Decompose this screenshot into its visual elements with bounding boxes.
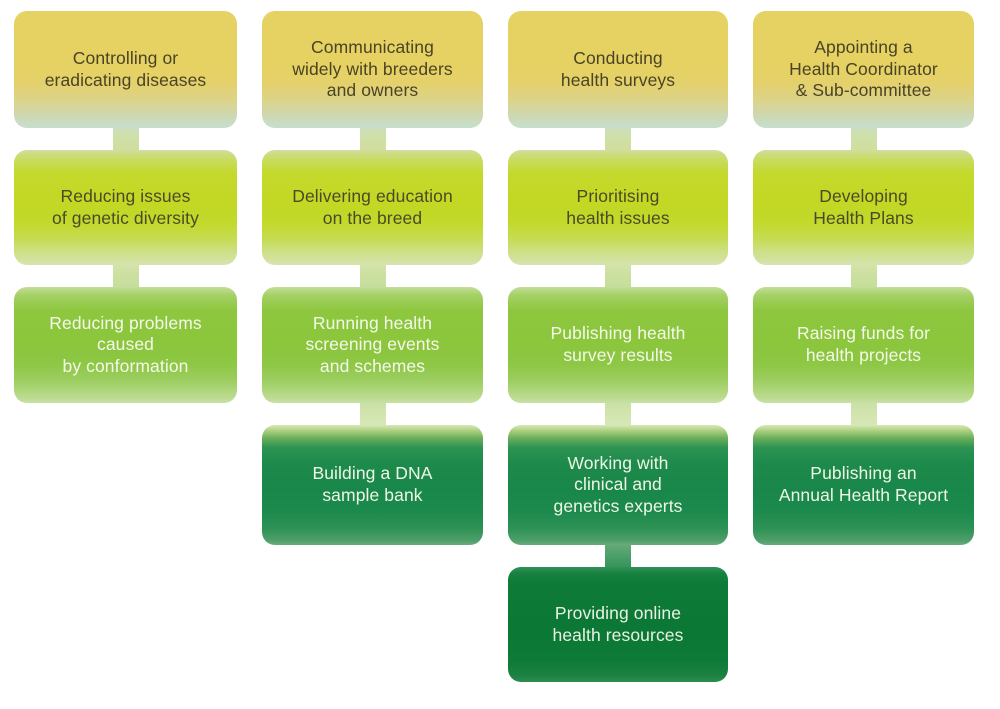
node-label: Appointing a Health Coordinator & Sub-co… — [789, 37, 938, 102]
diagram-column-2: Communicating widely with breeders and o… — [262, 0, 483, 709]
node-delivering-education-on-the-breed[interactable]: Delivering education on the breed — [262, 150, 483, 265]
node-prioritising-health-issues[interactable]: Prioritising health issues — [508, 150, 728, 265]
connector-neck — [605, 542, 631, 570]
node-label: Prioritising health issues — [566, 186, 669, 229]
node-appointing-a-health-coordinator-and-sub-committee[interactable]: Appointing a Health Coordinator & Sub-co… — [753, 11, 974, 128]
diagram-column-1: Controlling or eradicating diseases Redu… — [14, 0, 237, 709]
connector-neck — [605, 400, 631, 428]
node-building-a-dna-sample-bank[interactable]: Building a DNA sample bank — [262, 425, 483, 545]
node-reducing-problems-caused-by-conformation[interactable]: Reducing problems caused by conformation — [14, 287, 237, 403]
connector-neck — [605, 125, 631, 153]
node-label: Reducing issues of genetic diversity — [52, 186, 199, 229]
node-raising-funds-for-health-projects[interactable]: Raising funds for health projects — [753, 287, 974, 403]
connector-neck — [851, 262, 877, 290]
connector-neck — [113, 262, 139, 290]
node-label: Controlling or eradicating diseases — [45, 48, 207, 91]
connector-neck — [360, 262, 386, 290]
node-publishing-health-survey-results[interactable]: Publishing health survey results — [508, 287, 728, 403]
node-label: Communicating widely with breeders and o… — [292, 37, 453, 102]
node-label: Conducting health surveys — [561, 48, 675, 91]
node-label: Publishing an Annual Health Report — [779, 463, 948, 506]
node-label: Building a DNA sample bank — [312, 463, 432, 506]
node-label: Publishing health survey results — [551, 323, 686, 366]
node-label: Delivering education on the breed — [292, 186, 453, 229]
node-label: Reducing problems caused by conformation — [49, 313, 201, 378]
node-label: Raising funds for health projects — [797, 323, 930, 366]
connector-neck — [360, 125, 386, 153]
diagram-column-4: Appointing a Health Coordinator & Sub-co… — [753, 0, 974, 709]
node-controlling-or-eradicating-diseases[interactable]: Controlling or eradicating diseases — [14, 11, 237, 128]
node-working-with-clinical-and-genetics-experts[interactable]: Working with clinical and genetics exper… — [508, 425, 728, 545]
node-publishing-an-annual-health-report[interactable]: Publishing an Annual Health Report — [753, 425, 974, 545]
node-running-health-screening-events-and-schemes[interactable]: Running health screening events and sche… — [262, 287, 483, 403]
connector-neck — [360, 400, 386, 428]
node-label: Providing online health resources — [553, 603, 684, 646]
node-label: Working with clinical and genetics exper… — [553, 453, 682, 518]
node-communicating-widely-with-breeders-and-owners[interactable]: Communicating widely with breeders and o… — [262, 11, 483, 128]
node-label: Running health screening events and sche… — [306, 313, 440, 378]
connector-neck — [851, 400, 877, 428]
node-providing-online-health-resources[interactable]: Providing online health resources — [508, 567, 728, 682]
node-developing-health-plans[interactable]: Developing Health Plans — [753, 150, 974, 265]
diagram-column-3: Conducting health surveys Prioritising h… — [508, 0, 728, 709]
node-conducting-health-surveys[interactable]: Conducting health surveys — [508, 11, 728, 128]
connector-neck — [605, 262, 631, 290]
breed-health-activities-diagram: Controlling or eradicating diseases Redu… — [0, 0, 1000, 709]
connector-neck — [113, 125, 139, 153]
node-label: Developing Health Plans — [813, 186, 913, 229]
node-reducing-issues-of-genetic-diversity[interactable]: Reducing issues of genetic diversity — [14, 150, 237, 265]
connector-neck — [851, 125, 877, 153]
